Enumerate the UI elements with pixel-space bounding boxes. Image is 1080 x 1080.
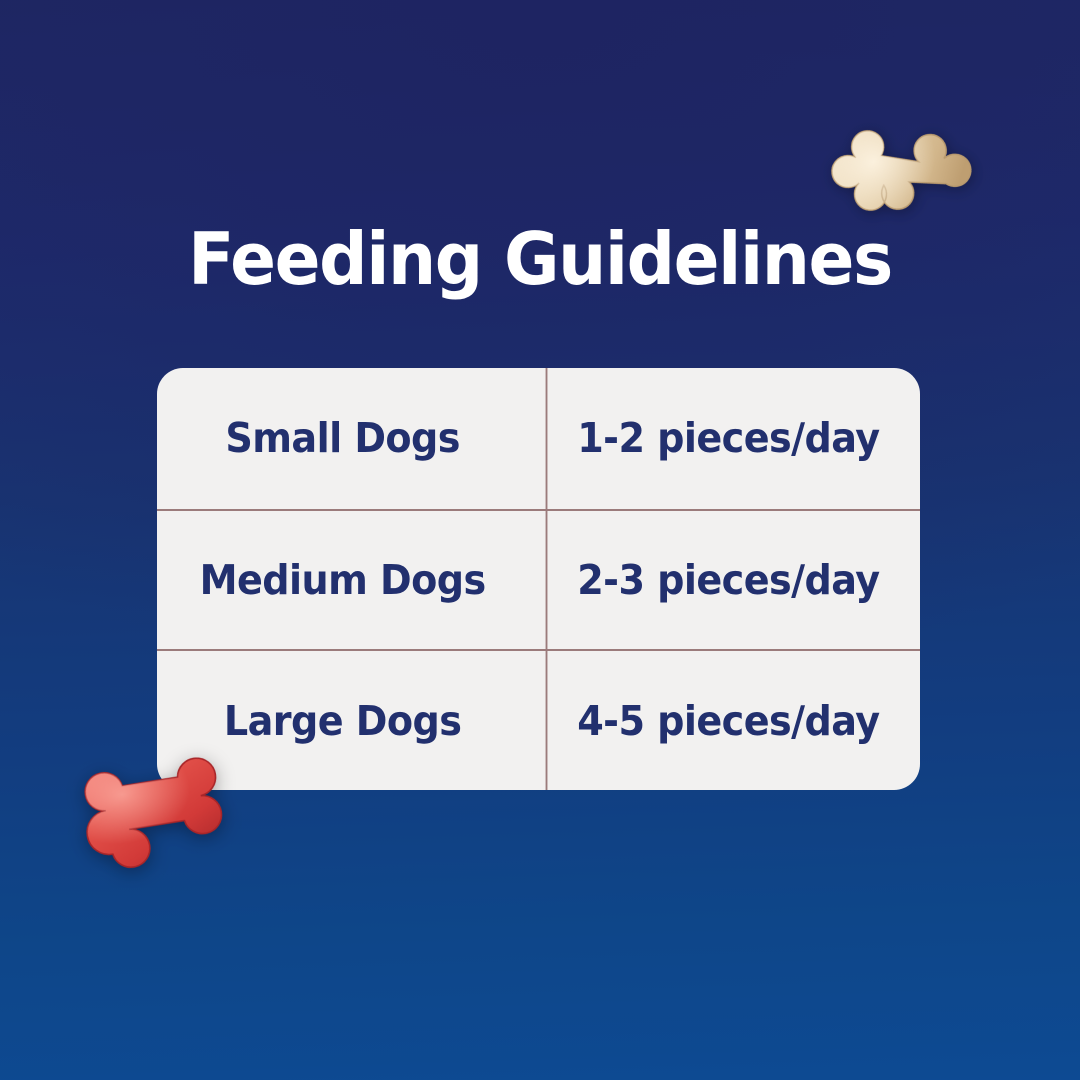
table-cell-dog-size: Large Dogs <box>170 651 519 790</box>
table-row: Medium Dogs 2-3 pieces/day <box>157 509 920 650</box>
page-title: Feeding Guidelines <box>32 216 1047 302</box>
feeding-guidelines-table: Small Dogs 1-2 pieces/day Medium Dogs 2-… <box>157 368 920 790</box>
table-cell-feeding-amount: 2-3 pieces/day <box>546 511 907 650</box>
table-cell-feeding-amount: 1-2 pieces/day <box>546 368 907 509</box>
table-cell-dog-size: Small Dogs <box>170 368 519 509</box>
table-cell-feeding-amount: 4-5 pieces/day <box>546 651 907 790</box>
table-cell-dog-size: Medium Dogs <box>170 511 519 650</box>
feeding-guidelines-graphic: Feeding Guidelines <box>0 0 1080 1080</box>
table-row: Small Dogs 1-2 pieces/day <box>157 368 920 509</box>
table-row: Large Dogs 4-5 pieces/day <box>157 649 920 790</box>
